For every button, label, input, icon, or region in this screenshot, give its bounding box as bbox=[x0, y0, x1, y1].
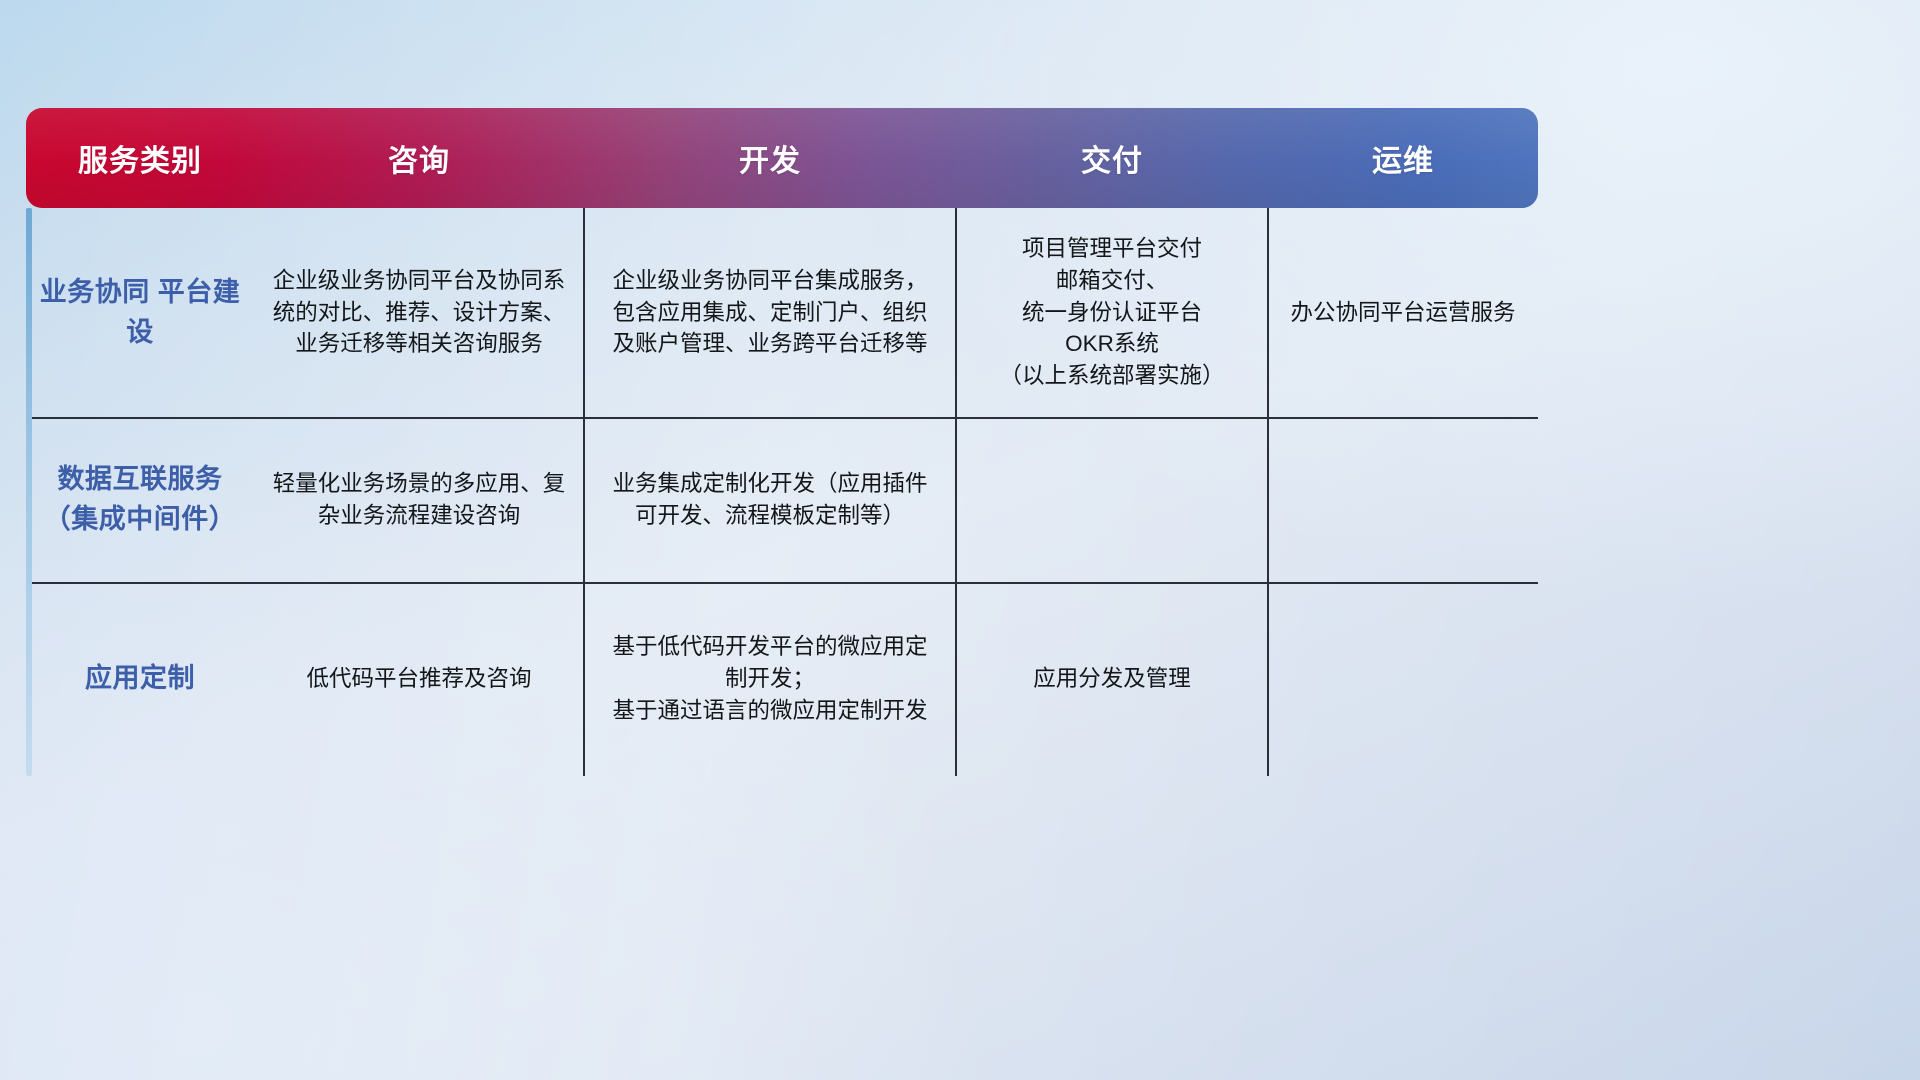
table-header-row: 服务类别 咨询 开发 交付 运维 bbox=[26, 108, 1538, 208]
header-cell-development: 开发 bbox=[584, 136, 956, 180]
row-category-cell: 数据互联服务 （集成中间件） bbox=[26, 417, 254, 582]
row-consulting-cell: 轻量化业务场景的多应用、复 杂业务流程建设咨询 bbox=[254, 417, 584, 582]
table-row: 数据互联服务 （集成中间件） 轻量化业务场景的多应用、复 杂业务流程建设咨询 业… bbox=[26, 417, 1538, 582]
development-text: 企业级业务协同平台集成服务， 包含应用集成、定制门户、组织 及账户管理、业务跨平… bbox=[612, 265, 927, 361]
row-development-cell: 基于低代码开发平台的微应用定 制开发； 基于通过语言的微应用定制开发 bbox=[584, 582, 956, 776]
row-operations-cell: 办公协同平台运营服务 bbox=[1268, 208, 1538, 417]
row-category-label: 数据互联服务 （集成中间件） bbox=[36, 460, 244, 538]
header-cell-consulting: 咨询 bbox=[254, 136, 584, 180]
development-text: 业务集成定制化开发（应用插件 可开发、流程模板定制等） bbox=[612, 468, 927, 532]
page-background: 服务类别 咨询 开发 交付 运维 业务协同 平台建设 企业级业务协同平台及协同系… bbox=[0, 0, 1920, 1080]
row-category-label: 业务协同 平台建设 bbox=[36, 273, 244, 351]
operations-text: 办公协同平台运营服务 bbox=[1290, 297, 1515, 329]
row-operations-cell bbox=[1268, 582, 1538, 776]
row-development-cell: 企业级业务协同平台集成服务， 包含应用集成、定制门户、组织 及账户管理、业务跨平… bbox=[584, 208, 956, 417]
delivery-text: 应用分发及管理 bbox=[1033, 663, 1191, 695]
column-divider-1 bbox=[583, 208, 585, 776]
row-development-cell: 业务集成定制化开发（应用插件 可开发、流程模板定制等） bbox=[584, 417, 956, 582]
column-divider-3 bbox=[1267, 208, 1269, 776]
row-delivery-cell: 应用分发及管理 bbox=[956, 582, 1268, 776]
consulting-text: 企业级业务协同平台及协同系 统的对比、推荐、设计方案、 业务迁移等相关咨询服务 bbox=[273, 265, 566, 361]
delivery-text: 项目管理平台交付 邮箱交付、 统一身份认证平台 OKR系统 （以上系统部署实施） bbox=[999, 233, 1224, 393]
row-category-label: 应用定制 bbox=[85, 659, 195, 698]
row-consulting-cell: 企业级业务协同平台及协同系 统的对比、推荐、设计方案、 业务迁移等相关咨询服务 bbox=[254, 208, 584, 417]
column-divider-2 bbox=[955, 208, 957, 776]
row-delivery-cell bbox=[956, 417, 1268, 582]
header-cell-delivery: 交付 bbox=[956, 136, 1268, 180]
table-body: 业务协同 平台建设 企业级业务协同平台及协同系 统的对比、推荐、设计方案、 业务… bbox=[26, 208, 1538, 776]
development-text: 基于低代码开发平台的微应用定 制开发； 基于通过语言的微应用定制开发 bbox=[612, 631, 927, 727]
service-matrix-table: 服务类别 咨询 开发 交付 运维 业务协同 平台建设 企业级业务协同平台及协同系… bbox=[26, 108, 1538, 776]
table-row: 应用定制 低代码平台推荐及咨询 基于低代码开发平台的微应用定 制开发； 基于通过… bbox=[26, 582, 1538, 776]
row-delivery-cell: 项目管理平台交付 邮箱交付、 统一身份认证平台 OKR系统 （以上系统部署实施） bbox=[956, 208, 1268, 417]
header-cell-service-category: 服务类别 bbox=[26, 136, 254, 180]
consulting-text: 低代码平台推荐及咨询 bbox=[306, 663, 531, 695]
row-category-cell: 业务协同 平台建设 bbox=[26, 208, 254, 417]
row-operations-cell bbox=[1268, 417, 1538, 582]
row-category-cell: 应用定制 bbox=[26, 582, 254, 776]
row-consulting-cell: 低代码平台推荐及咨询 bbox=[254, 582, 584, 776]
consulting-text: 轻量化业务场景的多应用、复 杂业务流程建设咨询 bbox=[273, 468, 566, 532]
table-row: 业务协同 平台建设 企业级业务协同平台及协同系 统的对比、推荐、设计方案、 业务… bbox=[26, 208, 1538, 417]
header-cell-operations: 运维 bbox=[1268, 136, 1538, 180]
